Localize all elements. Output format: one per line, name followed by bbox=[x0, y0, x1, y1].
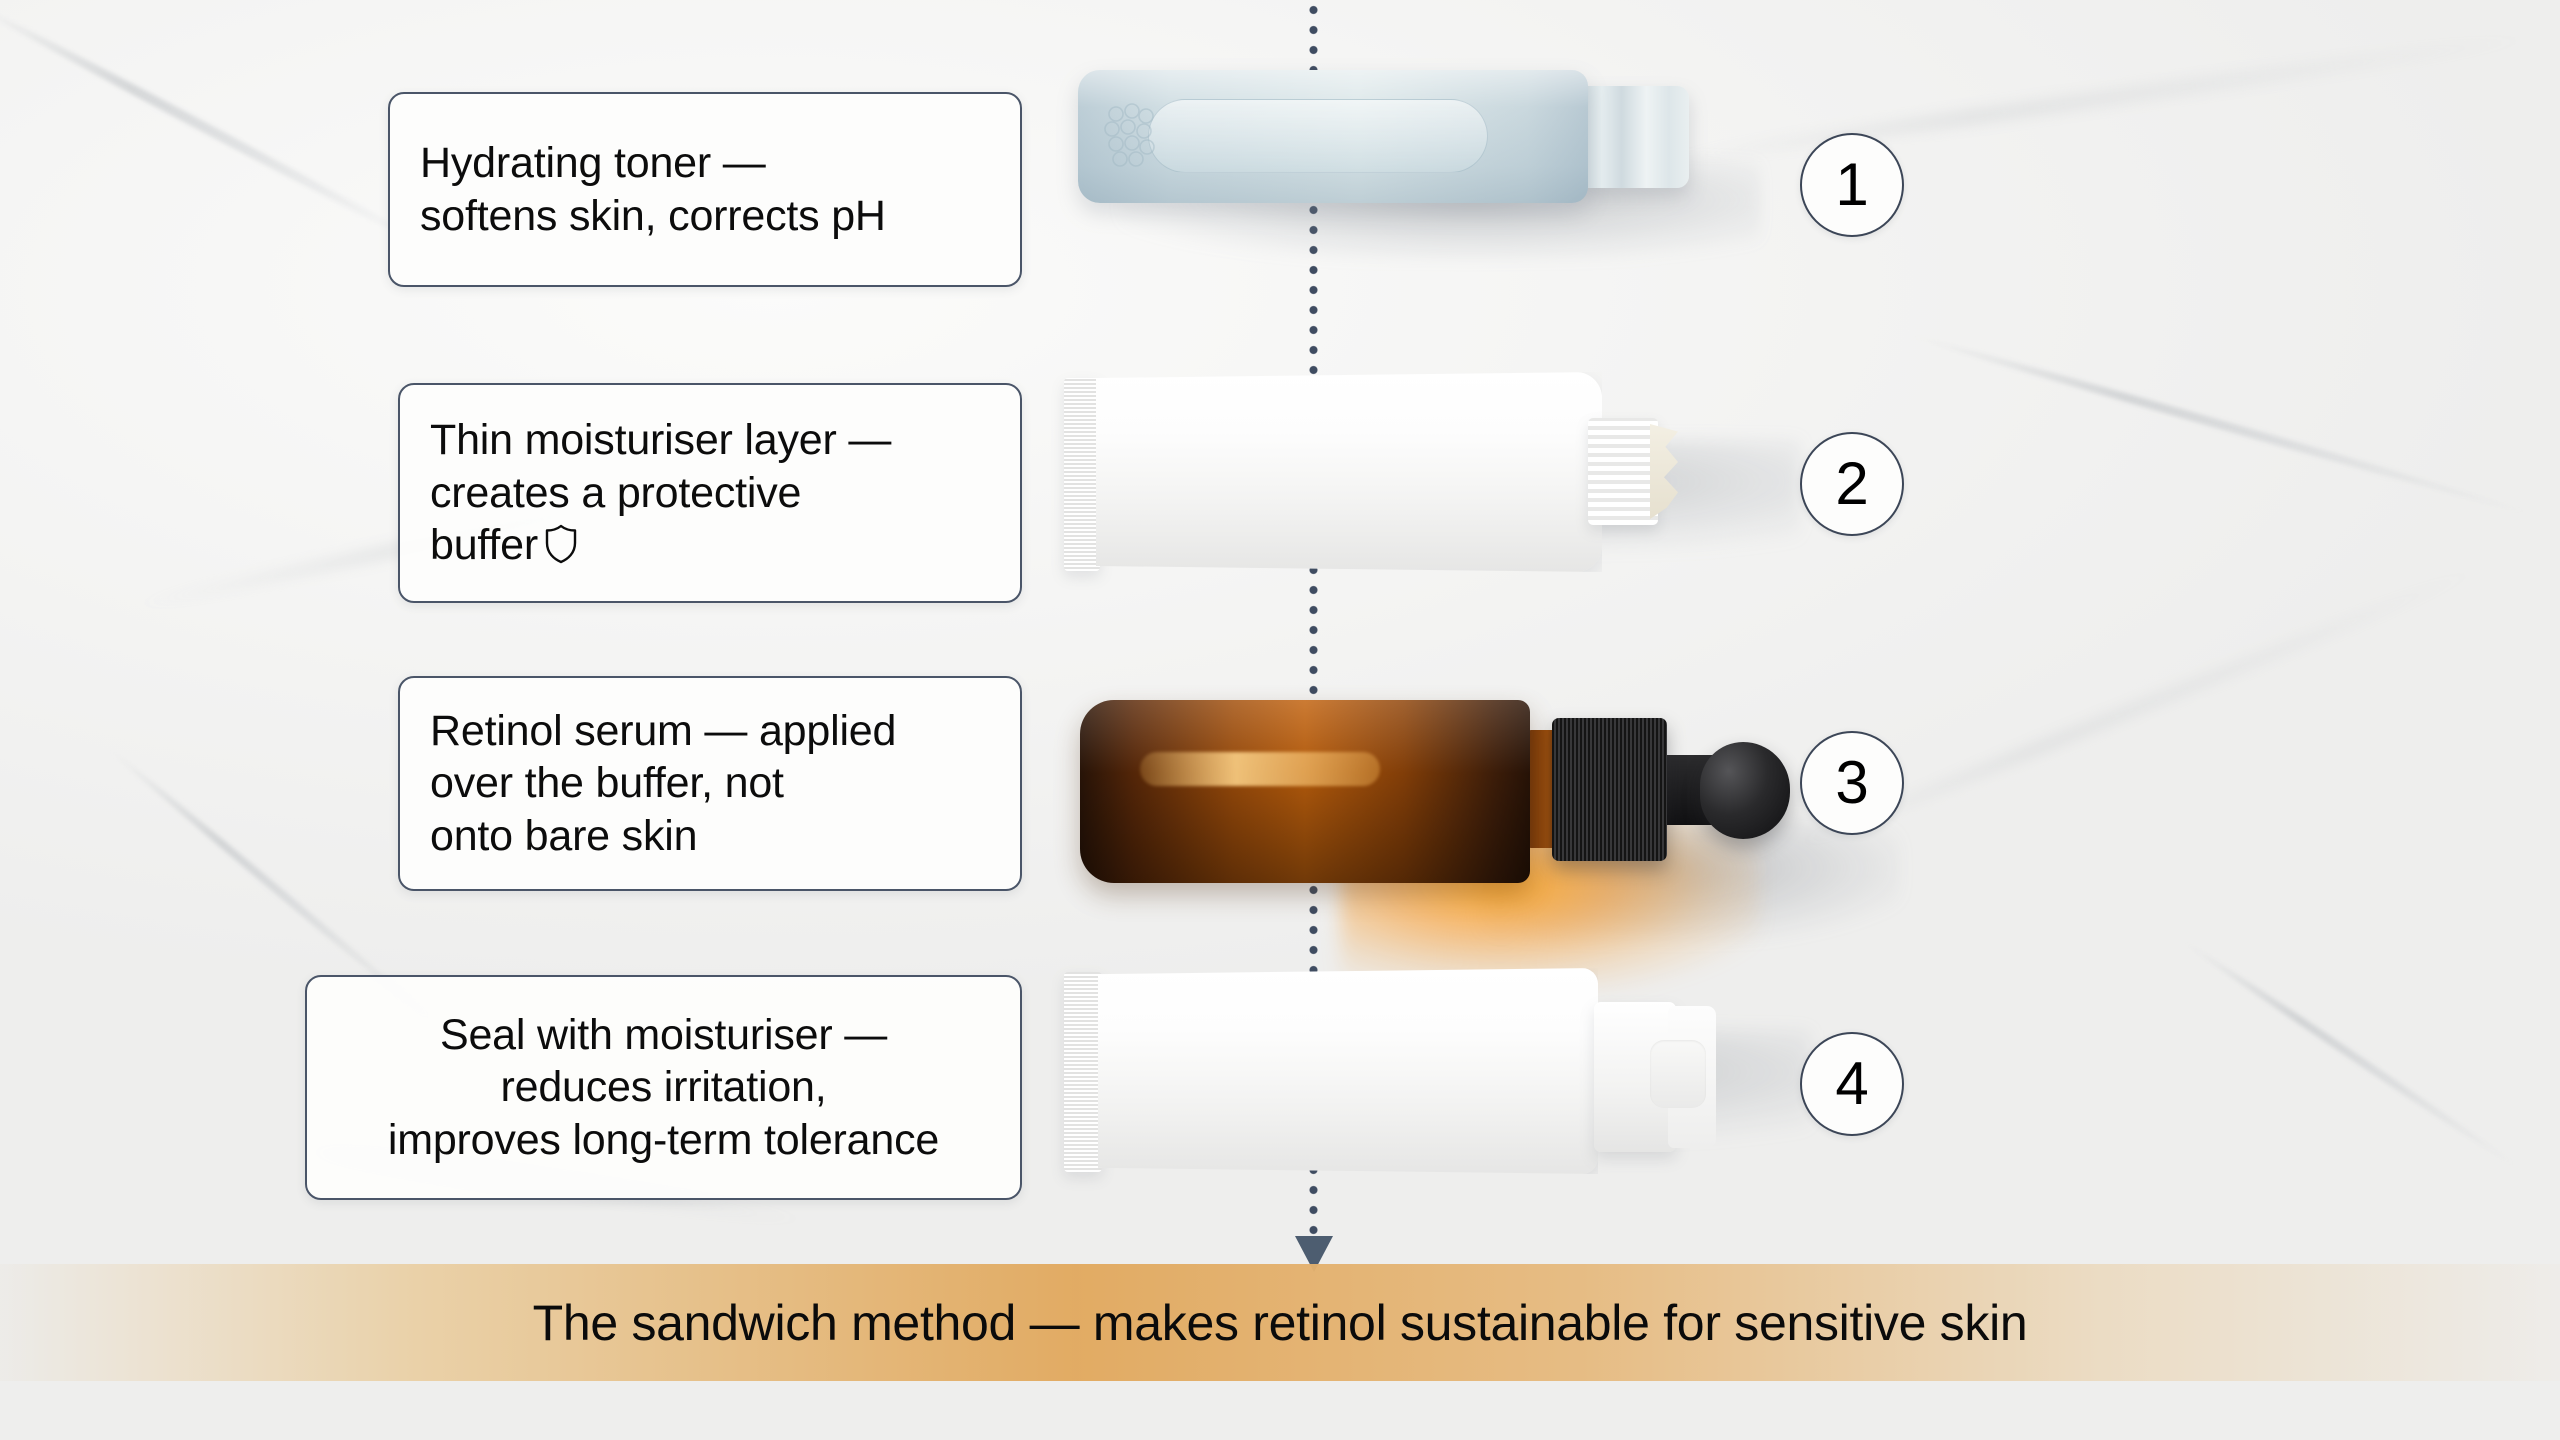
moisturiser-tube-cap-tab bbox=[1650, 1040, 1706, 1108]
step-badge-4-number: 4 bbox=[1835, 1054, 1868, 1114]
step-card-3[interactable]: Retinol serum — applied over the buffer,… bbox=[398, 676, 1022, 891]
toner-bottle-panel bbox=[1148, 99, 1488, 173]
moisturiser-tube-crimp bbox=[1064, 378, 1100, 571]
step-badge-1-number: 1 bbox=[1835, 155, 1868, 215]
step-badge-3[interactable]: 3 bbox=[1800, 731, 1904, 835]
serum-bottle bbox=[1080, 700, 1530, 883]
step-badge-1[interactable]: 1 bbox=[1800, 133, 1904, 237]
step-badge-2[interactable]: 2 bbox=[1800, 432, 1904, 536]
step-badge-4[interactable]: 4 bbox=[1800, 1032, 1904, 1136]
step-card-3-text: Retinol serum — applied over the buffer,… bbox=[430, 705, 896, 862]
shield-icon bbox=[544, 524, 578, 564]
step-card-1-text: Hydrating toner — softens skin, corrects… bbox=[420, 137, 886, 242]
step-card-4[interactable]: Seal with moisturiser — reduces irritati… bbox=[305, 975, 1022, 1200]
moisturiser-tube-body bbox=[1096, 372, 1602, 572]
moisturiser-tube-crimp bbox=[1064, 972, 1102, 1172]
moisturiser-tube-body bbox=[1098, 968, 1598, 1174]
toner-bottle bbox=[1078, 70, 1588, 203]
summary-banner: The sandwich method — makes retinol sust… bbox=[0, 1264, 2560, 1381]
toner-bottle-emboss bbox=[1102, 102, 1162, 172]
moisturiser-tube-neck bbox=[1588, 418, 1658, 525]
toner-bottle-cap bbox=[1577, 86, 1689, 188]
dropper-bulb bbox=[1700, 742, 1790, 839]
serum-bottle-highlight bbox=[1140, 752, 1380, 786]
step-badge-2-number: 2 bbox=[1835, 454, 1868, 514]
step-badge-3-number: 3 bbox=[1835, 753, 1868, 813]
summary-banner-text: The sandwich method — makes retinol sust… bbox=[533, 1294, 2028, 1352]
step-card-1[interactable]: Hydrating toner — softens skin, corrects… bbox=[388, 92, 1022, 287]
step-card-2[interactable]: Thin moisturiser layer — creates a prote… bbox=[398, 383, 1022, 603]
dropper-collar bbox=[1552, 718, 1667, 861]
infographic-canvas: Hydrating toner — softens skin, corrects… bbox=[0, 0, 2560, 1440]
step-card-4-text: Seal with moisturiser — reduces irritati… bbox=[388, 1009, 939, 1166]
step-card-2-text: Thin moisturiser layer — creates a prote… bbox=[430, 414, 891, 571]
